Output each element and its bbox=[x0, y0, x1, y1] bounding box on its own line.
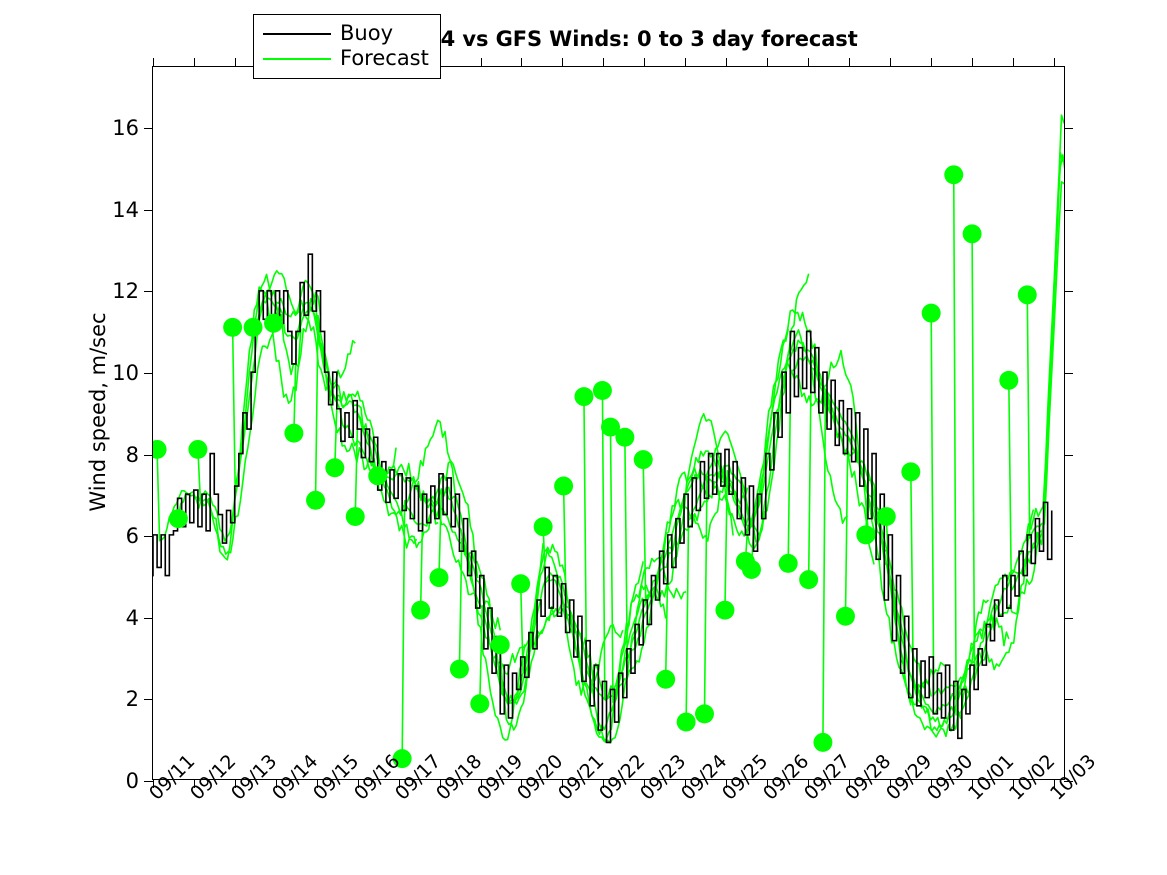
y-tick-right-16 bbox=[1064, 128, 1073, 129]
forecast-init-marker-23 bbox=[615, 428, 634, 447]
y-tick-right-2 bbox=[1064, 699, 1073, 700]
forecast-init-marker-7 bbox=[306, 491, 325, 510]
forecast-init-marker-3 bbox=[223, 318, 242, 337]
x-tick-top-09-12 bbox=[194, 58, 195, 67]
forecast-init-marker-17 bbox=[511, 574, 530, 593]
y-tick-16 bbox=[144, 128, 153, 129]
forecast-init-marker-20 bbox=[574, 387, 593, 406]
y-tick-right-8 bbox=[1064, 455, 1073, 456]
forecast-init-marker-32 bbox=[799, 570, 818, 589]
x-tick-top-09-30 bbox=[931, 58, 932, 67]
forecast-init-marker-28 bbox=[715, 601, 734, 620]
forecast-init-marker-12 bbox=[411, 601, 430, 620]
y-tick-10 bbox=[144, 373, 153, 374]
x-tick-top-09-20 bbox=[521, 58, 522, 67]
y-tick-14 bbox=[144, 210, 153, 211]
legend-line-forecast-icon bbox=[263, 58, 331, 60]
forecast-init-marker-13 bbox=[429, 568, 448, 587]
legend-line-buoy-icon bbox=[263, 33, 331, 35]
x-tick-top-09-28 bbox=[849, 58, 850, 67]
y-tick-6 bbox=[144, 536, 153, 537]
forecast-init-marker-16 bbox=[491, 635, 510, 654]
y-tick-right-12 bbox=[1064, 291, 1073, 292]
forecast-init-marker-39 bbox=[944, 165, 963, 184]
y-tick-label-12: 12 bbox=[112, 279, 139, 303]
forecast-init-marker-4 bbox=[244, 318, 263, 337]
x-tick-top-09-19 bbox=[481, 58, 482, 67]
y-tick-label-16: 16 bbox=[112, 116, 139, 140]
y-tick-label-8: 8 bbox=[126, 443, 139, 467]
forecast-init-marker-24 bbox=[634, 450, 653, 469]
forecast-init-marker-6 bbox=[284, 424, 303, 443]
x-tick-top-09-29 bbox=[890, 58, 891, 67]
forecast-init-marker-31 bbox=[779, 554, 798, 573]
forecast-init-marker-30 bbox=[742, 560, 761, 579]
forecast-init-marker-0 bbox=[153, 440, 167, 459]
y-tick-label-6: 6 bbox=[126, 524, 139, 548]
y-tick-4 bbox=[144, 618, 153, 619]
x-tick-top-09-23 bbox=[644, 58, 645, 67]
x-tick-top-09-13 bbox=[235, 58, 236, 67]
x-tick-top-10-01 bbox=[972, 58, 973, 67]
plot-clip-region bbox=[153, 67, 1064, 779]
forecast-init-marker-14 bbox=[450, 660, 469, 679]
legend-label-buoy: Buoy bbox=[340, 23, 393, 44]
forecast-init-marker-10 bbox=[368, 466, 387, 485]
forecast-init-marker-18 bbox=[534, 517, 553, 536]
figure-canvas: NDBC 41004 vs GFS Winds: 0 to 3 day fore… bbox=[0, 0, 1167, 875]
y-tick-2 bbox=[144, 699, 153, 700]
forecast-init-marker-37 bbox=[901, 462, 920, 481]
y-axis-label: Wind speed, m/sec bbox=[86, 262, 110, 562]
legend-label-forecast: Forecast bbox=[340, 48, 429, 69]
forecast-init-marker-19 bbox=[554, 477, 573, 496]
y-tick-8 bbox=[144, 455, 153, 456]
forecast-init-marker-42 bbox=[1018, 285, 1037, 304]
forecast-init-markers bbox=[153, 67, 1064, 779]
x-tick-top-10-02 bbox=[1013, 58, 1014, 67]
x-tick-top-09-26 bbox=[767, 58, 768, 67]
y-tick-right-14 bbox=[1064, 210, 1073, 211]
forecast-init-marker-9 bbox=[346, 507, 365, 526]
forecast-init-marker-2 bbox=[188, 440, 207, 459]
y-tick-right-6 bbox=[1064, 536, 1073, 537]
forecast-init-marker-25 bbox=[656, 670, 675, 689]
x-tick-top-09-11 bbox=[153, 58, 154, 67]
x-tick-top-09-21 bbox=[562, 58, 563, 67]
forecast-init-marker-1 bbox=[169, 509, 188, 528]
y-tick-12 bbox=[144, 291, 153, 292]
y-tick-label-2: 2 bbox=[126, 687, 139, 711]
x-tick-top-09-24 bbox=[685, 58, 686, 67]
forecast-init-marker-34 bbox=[836, 607, 855, 626]
y-tick-right-10 bbox=[1064, 373, 1073, 374]
forecast-init-marker-41 bbox=[999, 371, 1018, 390]
y-tick-label-4: 4 bbox=[126, 606, 139, 630]
forecast-init-marker-21 bbox=[593, 381, 612, 400]
forecast-init-marker-15 bbox=[470, 694, 489, 713]
forecast-init-marker-36 bbox=[877, 507, 896, 526]
chart-legend: Buoy Forecast bbox=[253, 14, 441, 79]
legend-item-buoy: Buoy bbox=[263, 21, 429, 46]
plot-area: 0246810121416 09/1109/1209/1309/1409/150… bbox=[152, 66, 1065, 780]
y-tick-label-10: 10 bbox=[112, 361, 139, 385]
x-tick-top-09-27 bbox=[808, 58, 809, 67]
forecast-init-marker-5 bbox=[264, 314, 283, 333]
forecast-init-marker-33 bbox=[813, 733, 832, 752]
y-tick-right-4 bbox=[1064, 618, 1073, 619]
forecast-init-marker-35 bbox=[856, 525, 875, 544]
x-tick-top-09-25 bbox=[726, 58, 727, 67]
forecast-init-marker-40 bbox=[963, 224, 982, 243]
forecast-init-marker-27 bbox=[695, 704, 714, 723]
legend-item-forecast: Forecast bbox=[263, 46, 429, 71]
forecast-init-marker-26 bbox=[677, 713, 696, 732]
forecast-init-marker-38 bbox=[922, 304, 941, 323]
x-tick-top-10-03 bbox=[1054, 58, 1055, 67]
forecast-init-marker-8 bbox=[325, 458, 344, 477]
y-tick-label-0: 0 bbox=[126, 769, 139, 793]
x-tick-top-09-22 bbox=[603, 58, 604, 67]
chart-title: NDBC 41004 vs GFS Winds: 0 to 3 day fore… bbox=[0, 27, 1167, 51]
y-tick-label-14: 14 bbox=[112, 198, 139, 222]
